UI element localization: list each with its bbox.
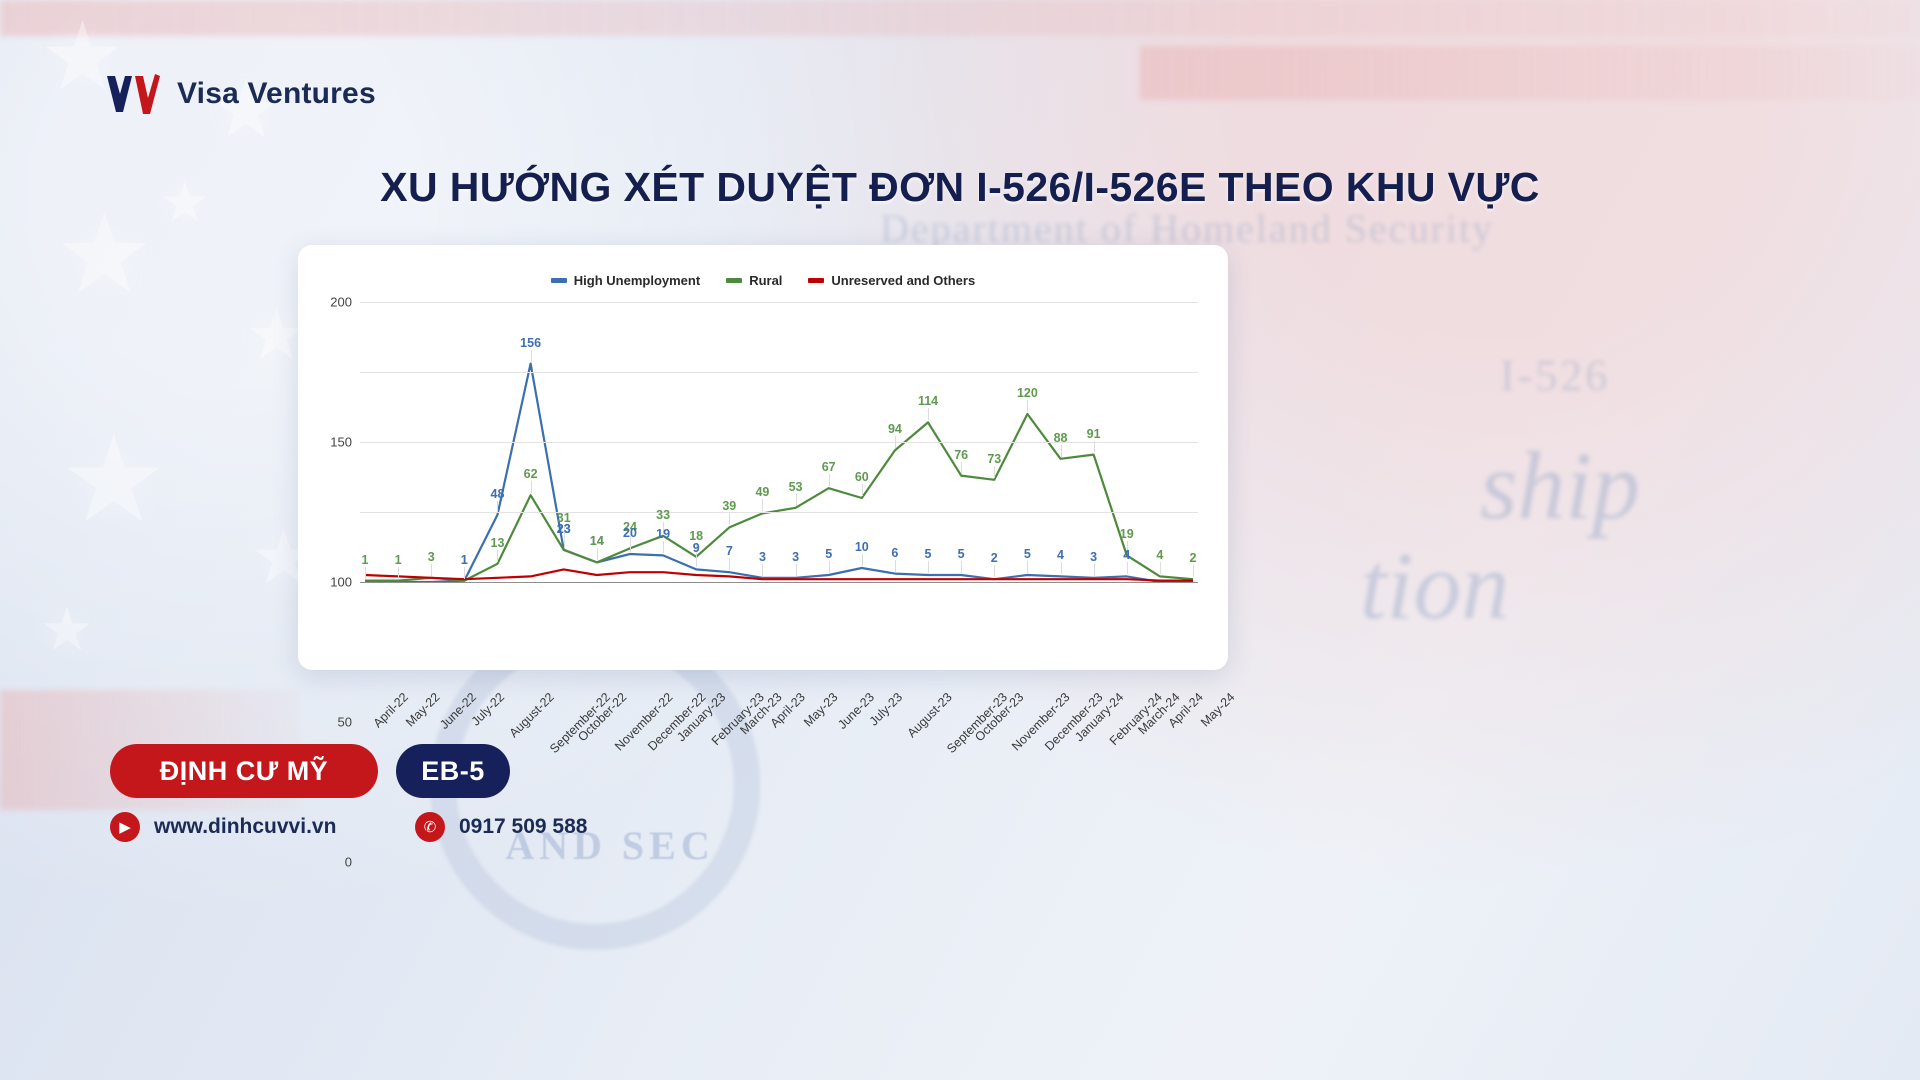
label-stem (531, 481, 532, 493)
label-stem (696, 555, 697, 567)
label-stem (497, 550, 498, 562)
label-stem (928, 408, 929, 420)
x-axis-tick-label: August-23 (905, 690, 955, 740)
series-line (365, 569, 1193, 580)
x-axis-tick-label: June-22 (437, 690, 479, 732)
legend-label: Unreserved and Others (831, 273, 975, 288)
label-stem (829, 474, 830, 486)
label-stem (796, 564, 797, 576)
label-stem (1061, 562, 1062, 574)
data-label: 3 (792, 550, 799, 564)
data-label: 10 (855, 540, 869, 554)
data-label: 33 (656, 508, 670, 522)
data-label: 3 (759, 550, 766, 564)
label-stem (1160, 562, 1161, 574)
data-label: 5 (925, 547, 932, 561)
label-stem (1094, 441, 1095, 453)
label-stem (961, 561, 962, 573)
data-label: 2 (1190, 551, 1197, 565)
legend-item-rural[interactable]: Rural (726, 273, 782, 288)
label-stem (365, 567, 366, 579)
gridline: 50 (360, 512, 1198, 513)
label-stem (398, 567, 399, 579)
data-label: 120 (1017, 386, 1038, 400)
chart-legend: High UnemploymentRuralUnreserved and Oth… (298, 245, 1228, 288)
label-stem (895, 560, 896, 572)
label-stem (994, 565, 995, 577)
label-stem (762, 564, 763, 576)
legend-label: High Unemployment (574, 273, 700, 288)
label-stem (729, 558, 730, 570)
data-label: 3 (1090, 550, 1097, 564)
data-label: 9 (693, 541, 700, 555)
label-stem (729, 513, 730, 525)
label-stem (796, 494, 797, 506)
legend-label: Rural (749, 273, 782, 288)
label-stem (497, 501, 498, 513)
label-stem (1027, 561, 1028, 573)
data-label: 4 (1123, 548, 1130, 562)
label-stem (597, 548, 598, 560)
website-row[interactable]: ▶ www.dinhcuvvi.vn (110, 812, 336, 842)
y-axis-tick: 150 (330, 435, 352, 450)
label-stem (1127, 562, 1128, 574)
gridline: 150 (360, 372, 1198, 373)
label-stem (895, 436, 896, 448)
phone-row[interactable]: ✆ 0917 509 588 (415, 812, 587, 842)
label-stem (1193, 565, 1194, 577)
label-stem (862, 554, 863, 566)
data-label: 67 (822, 460, 836, 474)
data-label: 60 (855, 470, 869, 484)
label-stem (630, 540, 631, 552)
legend-swatch-icon (726, 278, 742, 283)
data-label: 49 (755, 485, 769, 499)
data-label: 2 (991, 551, 998, 565)
label-stem (464, 567, 465, 579)
data-label: 48 (491, 487, 505, 501)
label-stem (1027, 400, 1028, 412)
website-text: www.dinhcuvvi.vn (154, 815, 336, 839)
data-label: 19 (1120, 527, 1134, 541)
gridline: 100 (360, 442, 1198, 443)
data-label: 1 (395, 553, 402, 567)
data-label: 1 (461, 553, 468, 567)
data-label: 6 (891, 546, 898, 560)
x-axis-tick-label: May-22 (403, 690, 442, 729)
label-stem (961, 462, 962, 474)
data-label: 5 (958, 547, 965, 561)
x-axis-tick-label: May-23 (801, 690, 840, 729)
data-label: 62 (524, 467, 538, 481)
chart-plot-area: 0501001502001131136224331839495367609411… (360, 302, 1198, 582)
data-label: 5 (1024, 547, 1031, 561)
data-label: 4 (1057, 548, 1064, 562)
data-label: 20 (623, 526, 637, 540)
data-label: 19 (656, 527, 670, 541)
series-line (365, 414, 1193, 581)
brand-name: Visa Ventures (177, 77, 376, 111)
badge-dinh-cu-my: ĐỊNH CƯ MỸ (110, 744, 378, 798)
y-axis-tick: 0 (345, 855, 352, 870)
label-stem (531, 350, 532, 362)
legend-swatch-icon (808, 278, 824, 283)
phone-icon: ✆ (415, 812, 445, 842)
legend-item-high-unemployment[interactable]: High Unemployment (551, 273, 700, 288)
y-axis-tick: 200 (330, 295, 352, 310)
data-label: 1 (362, 553, 369, 567)
chart-card: High UnemploymentRuralUnreserved and Oth… (298, 245, 1228, 670)
data-label: 73 (987, 452, 1001, 466)
data-label: 53 (789, 480, 803, 494)
data-label: 14 (590, 534, 604, 548)
label-stem (829, 561, 830, 573)
x-axis-tick-label: April-22 (371, 690, 411, 730)
data-label: 7 (726, 544, 733, 558)
data-label: 88 (1054, 431, 1068, 445)
series-line (365, 364, 1193, 582)
label-stem (762, 499, 763, 511)
phone-text: 0917 509 588 (459, 815, 587, 839)
data-label: 76 (954, 448, 968, 462)
legend-item-unreserved-and-others[interactable]: Unreserved and Others (808, 273, 975, 288)
label-stem (663, 541, 664, 553)
data-label: 4 (1156, 548, 1163, 562)
legend-swatch-icon (551, 278, 567, 283)
gridline: 0 (360, 582, 1198, 583)
label-stem (431, 564, 432, 576)
y-axis-tick: 50 (338, 715, 352, 730)
data-label: 5 (825, 547, 832, 561)
label-stem (862, 484, 863, 496)
brand-logo: Visa Ventures (105, 68, 376, 120)
data-label: 39 (722, 499, 736, 513)
label-stem (928, 561, 929, 573)
data-label: 3 (428, 550, 435, 564)
badge-eb5: EB-5 (396, 744, 510, 798)
label-stem (564, 536, 565, 548)
label-stem (994, 466, 995, 478)
play-triangle-icon: ▶ (110, 812, 140, 842)
data-label: 94 (888, 422, 902, 436)
gridline: 200 (360, 302, 1198, 303)
label-stem (1094, 564, 1095, 576)
label-stem (1061, 445, 1062, 457)
x-axis-tick-label: August-22 (507, 690, 557, 740)
data-label: 13 (491, 536, 505, 550)
x-axis-tick-label: May-24 (1198, 690, 1237, 729)
data-label: 23 (557, 522, 571, 536)
y-axis-tick: 100 (330, 575, 352, 590)
data-label: 156 (520, 336, 541, 350)
visa-ventures-v-mark-icon (105, 68, 161, 120)
page-title: XU HƯỚNG XÉT DUYỆT ĐƠN I-526/I-526E THEO… (0, 164, 1920, 211)
data-label: 114 (918, 394, 938, 408)
data-label: 91 (1087, 427, 1101, 441)
x-axis-tick-label: June-23 (835, 690, 877, 732)
